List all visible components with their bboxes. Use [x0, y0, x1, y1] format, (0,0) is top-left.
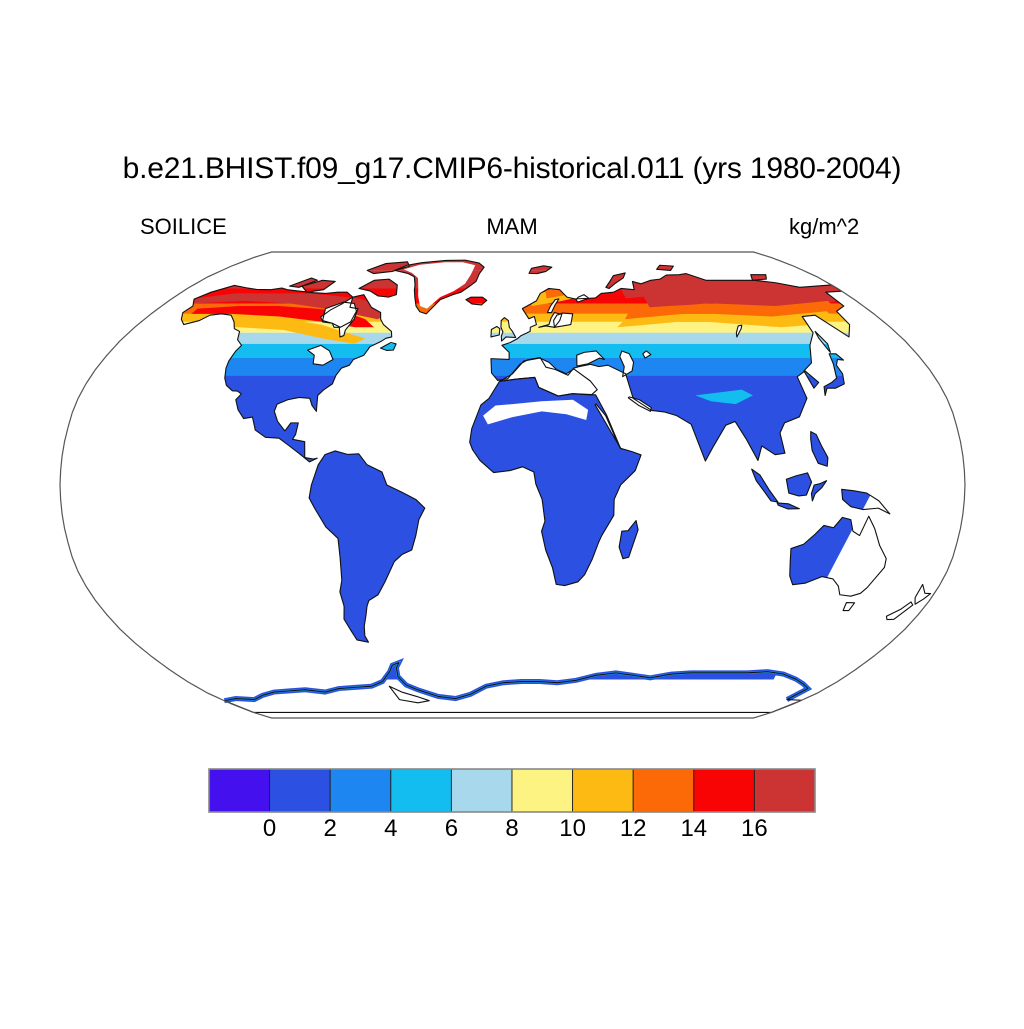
colorbar-tick-label-0: 0 — [263, 815, 276, 843]
colorbar-svg — [0, 0, 1024, 1024]
colorbar-segment-8 — [694, 769, 755, 812]
colorbar-segment-2 — [330, 769, 391, 812]
colorbar-tick-label-1: 2 — [324, 815, 337, 843]
colorbar-panel: 0246810121416 — [0, 0, 1024, 1024]
colorbar-tick-label-7: 14 — [680, 815, 707, 843]
colorbar-segment-4 — [451, 769, 512, 812]
colorbar-tick-label-6: 12 — [620, 815, 647, 843]
colorbar-segment-6 — [573, 769, 634, 812]
colorbar-segment-0 — [209, 769, 270, 812]
colorbar-tick-label-2: 4 — [384, 815, 397, 843]
colorbar-tick-label-5: 10 — [559, 815, 586, 843]
colorbar-segment-7 — [633, 769, 694, 812]
colorbar-tick-label-8: 16 — [741, 815, 768, 843]
colorbar-segment-5 — [512, 769, 573, 812]
colorbar-segment-3 — [391, 769, 452, 812]
colorbar-tick-label-4: 8 — [505, 815, 518, 843]
colorbar-tick-label-3: 6 — [445, 815, 458, 843]
colorbar-segment-9 — [754, 769, 815, 812]
colorbar-segment-1 — [270, 769, 331, 812]
